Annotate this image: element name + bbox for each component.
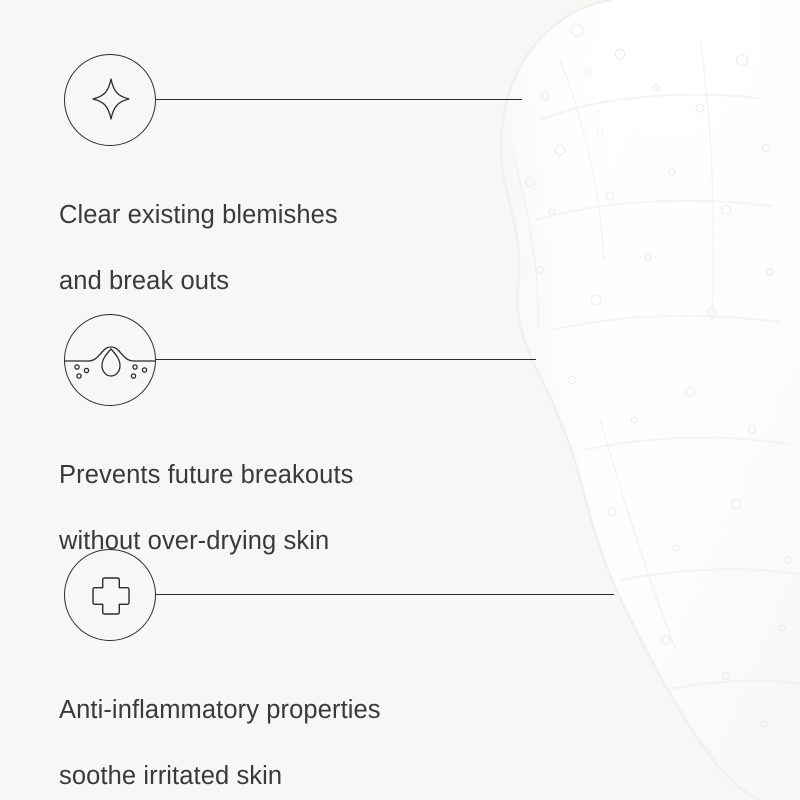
feature-text-1-line-2: and break outs [59,265,489,298]
feature-icon-circle-2[interactable] [64,314,156,406]
feature-icon-circle-3[interactable] [64,549,156,641]
feature-icon-circle-1[interactable] [64,54,156,146]
feature-text-3: Anti-inflammatory properties soothe irri… [59,661,489,800]
sparkle-icon [93,79,129,119]
feature-connector-line-1 [156,99,522,100]
feature-text-1-line-1: Clear existing blemishes [59,199,489,232]
skin-pore-icon [65,347,156,378]
feature-connector-line-3 [156,594,614,595]
feature-text-2-line-1: Prevents future breakouts [59,459,489,492]
medical-cross-icon [93,578,129,614]
infographic-canvas: Clear existing blemishes and break outs [0,0,800,800]
feature-text-3-line-2: soothe irritated skin [59,760,489,793]
feature-connector-line-2 [156,359,536,360]
feature-text-3-line-1: Anti-inflammatory properties [59,694,489,727]
feature-text-1: Clear existing blemishes and break outs [59,166,489,331]
